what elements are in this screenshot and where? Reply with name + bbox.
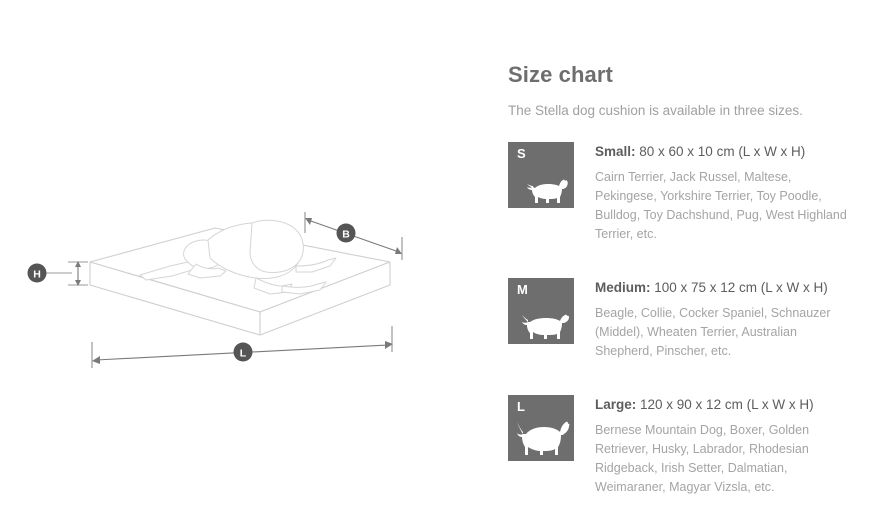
dimension-height: H xyxy=(28,261,89,286)
size-heading-medium: Medium: 100 x 75 x 12 cm (L x W x H) xyxy=(595,280,868,297)
page-subtitle: The Stella dog cushion is available in t… xyxy=(508,102,868,120)
dimension-label-l: L xyxy=(240,348,247,360)
size-label-medium: Medium: xyxy=(595,280,651,295)
size-badge-small: S xyxy=(508,142,574,208)
medium-dog-icon xyxy=(520,309,570,341)
size-breeds-small: Cairn Terrier, Jack Russel, Maltese, Pek… xyxy=(595,168,847,244)
dimension-label-h: H xyxy=(33,269,41,281)
size-heading-large: Large: 120 x 90 x 12 cm (L x W x H) xyxy=(595,397,868,414)
size-text-small: Small: 80 x 60 x 10 cm (L x W x H) Cairn… xyxy=(595,142,868,244)
size-label-large: Large: xyxy=(595,397,636,412)
size-chart-panel: Size chart The Stella dog cushion is ava… xyxy=(508,62,868,531)
dog-haunch xyxy=(250,220,303,272)
size-badge-medium: M xyxy=(508,278,574,344)
dimension-length: L xyxy=(92,326,393,368)
small-dog-icon xyxy=(526,175,570,205)
size-label-small: Small: xyxy=(595,144,636,159)
size-dimensions-small: 80 x 60 x 10 cm (L x W x H) xyxy=(636,144,806,159)
page-title: Size chart xyxy=(508,62,868,88)
size-badge-letter-small: S xyxy=(517,147,526,160)
size-heading-small: Small: 80 x 60 x 10 cm (L x W x H) xyxy=(595,144,868,161)
size-badge-letter-medium: M xyxy=(517,283,528,296)
size-breeds-medium: Beagle, Collie, Cocker Spaniel, Schnauze… xyxy=(595,304,847,361)
size-row-small: S Small: 80 x 60 x 10 cm (L x W x H) Cai… xyxy=(508,142,868,244)
dimension-label-b: B xyxy=(342,229,350,241)
size-breeds-large: Bernese Mountain Dog, Boxer, Golden Retr… xyxy=(595,421,847,497)
size-text-large: Large: 120 x 90 x 12 cm (L x W x H) Bern… xyxy=(595,395,868,497)
cushion-dimension-diagram: H B L xyxy=(20,200,440,390)
cushion-diagram-panel: H B L xyxy=(0,0,470,519)
size-text-medium: Medium: 100 x 75 x 12 cm (L x W x H) Bea… xyxy=(595,278,868,361)
size-badge-large: L xyxy=(508,395,574,461)
size-dimensions-large: 120 x 90 x 12 cm (L x W x H) xyxy=(636,397,813,412)
size-row-large: L Large: 120 x 90 x 12 cm (L x W x H) Be… xyxy=(508,395,868,497)
size-badge-letter-large: L xyxy=(517,400,525,413)
size-dimensions-medium: 100 x 75 x 12 cm (L x W x H) xyxy=(651,280,828,295)
size-row-medium: M Medium: 100 x 75 x 12 cm (L x W x H) B… xyxy=(508,278,868,361)
large-dog-icon xyxy=(514,416,570,458)
